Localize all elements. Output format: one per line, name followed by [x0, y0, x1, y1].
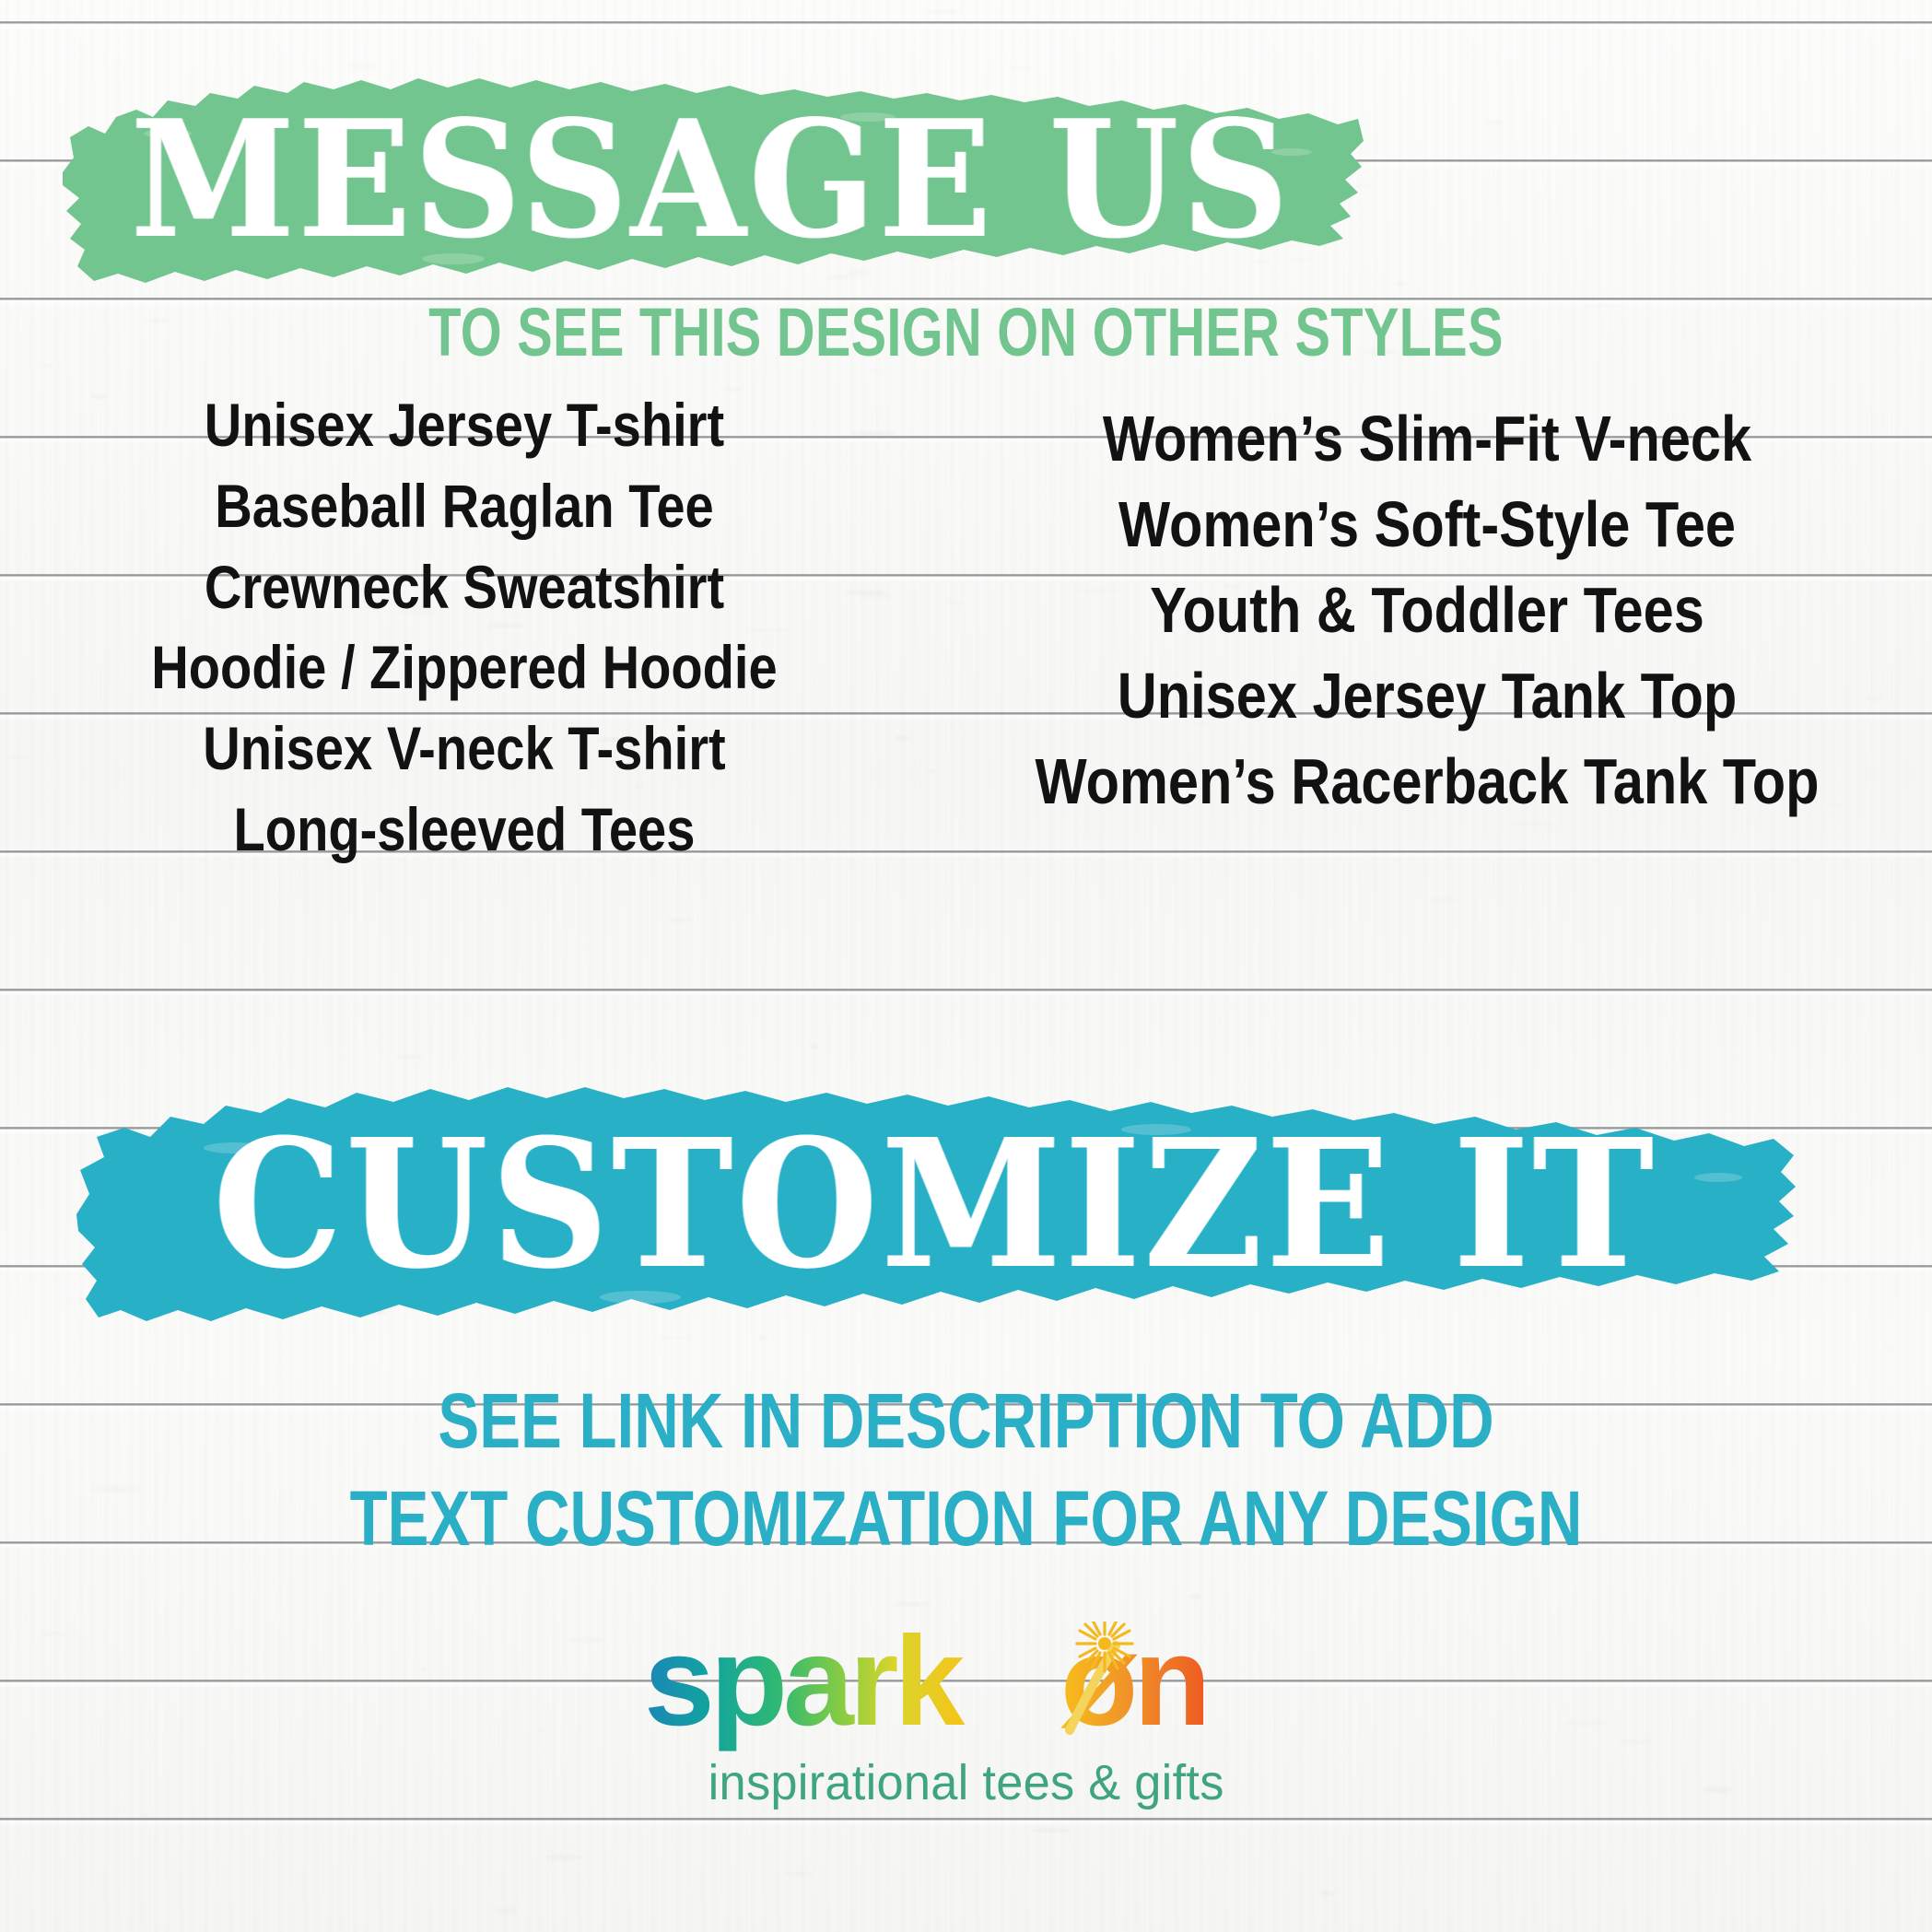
- customize-it-subtitle: SEE LINK IN DESCRIPTION TO ADD TEXT CUST…: [193, 1373, 1739, 1568]
- list-item: Long-sleeved Tees: [73, 790, 856, 871]
- brand-logo: spark øn: [0, 1622, 1932, 1811]
- wood-grain-mark: [348, 64, 374, 69]
- customize-it-banner: CUSTOMIZE IT: [69, 1076, 1801, 1332]
- list-item: Youth & Toddler Tees: [1000, 568, 1854, 653]
- logo-spark-text: spark: [644, 1622, 965, 1752]
- style-list-right-items: Women’s Slim-Fit V-neck Women’s Soft-Sty…: [925, 396, 1929, 825]
- style-list-left-column: Unisex Jersey T-shirt Baseball Raglan Te…: [4, 385, 925, 871]
- message-us-label: MESSAGE US: [131, 86, 1292, 275]
- wood-grain-mark: [1190, 1594, 1201, 1599]
- wood-grain-mark: [1396, 282, 1405, 287]
- wood-grain-mark: [810, 1043, 820, 1049]
- list-item: Women’s Soft-Style Tee: [1000, 482, 1854, 568]
- wood-grain-mark: [43, 365, 53, 368]
- plank-line: [0, 989, 1932, 991]
- list-item: Hoodie / Zippered Hoodie: [73, 627, 856, 708]
- wood-grain-mark: [668, 918, 695, 922]
- customize-subtitle-line-1: SEE LINK IN DESCRIPTION TO ADD: [193, 1373, 1739, 1470]
- wood-grain-mark: [496, 1907, 516, 1913]
- logo-tagline: inspirational tees & gifts: [708, 1754, 1224, 1811]
- logo-wordmark-svg: spark øn: [644, 1622, 1289, 1760]
- logo-wordmark: spark øn: [644, 1622, 1289, 1760]
- promo-graphic: MESSAGE US TO SEE THIS DESIGN ON OTHER S…: [0, 0, 1932, 1932]
- plank-line: [0, 21, 1932, 24]
- wood-grain-mark: [91, 1486, 140, 1493]
- wood-grain-mark: [144, 318, 172, 324]
- logo-on-text: øn: [1060, 1622, 1207, 1752]
- plank-line: [0, 1818, 1932, 1821]
- wood-grain-mark: [544, 1855, 583, 1859]
- style-list-right-column: Women’s Slim-Fit V-neck Women’s Soft-Sty…: [925, 396, 1929, 825]
- wood-grain-mark: [756, 1336, 767, 1340]
- wood-grain-mark: [140, 1815, 150, 1819]
- list-item: Women’s Racerback Tank Top: [1000, 739, 1854, 825]
- customize-subtitle-line-2: TEXT CUSTOMIZATION FOR ANY DESIGN: [193, 1470, 1739, 1568]
- wood-grain-mark: [395, 1055, 425, 1058]
- message-us-banner: MESSAGE US: [57, 69, 1365, 290]
- list-item: Unisex Jersey Tank Top: [1000, 653, 1854, 739]
- wood-grain-mark: [1320, 1891, 1335, 1896]
- wood-grain-mark: [921, 10, 966, 14]
- style-list-left-items: Unisex Jersey T-shirt Baseball Raglan Te…: [4, 385, 925, 871]
- list-item: Baseball Raglan Tee: [73, 466, 856, 547]
- message-us-subtitle: TO SEE THIS DESIGN ON OTHER STYLES: [213, 293, 1720, 371]
- customize-it-label: CUSTOMIZE IT: [213, 1101, 1657, 1308]
- apparel-style-lists: Unisex Jersey T-shirt Baseball Raglan Te…: [0, 385, 1932, 871]
- list-item: Unisex V-neck T-shirt: [73, 708, 856, 790]
- wood-grain-mark: [783, 1872, 812, 1876]
- wood-grain-mark: [1487, 122, 1506, 123]
- list-item: Unisex Jersey T-shirt: [73, 385, 856, 466]
- wood-grain-mark: [1881, 1347, 1895, 1350]
- list-item: Women’s Slim-Fit V-neck: [1000, 396, 1854, 482]
- list-item: Crewneck Sweatshirt: [73, 547, 856, 628]
